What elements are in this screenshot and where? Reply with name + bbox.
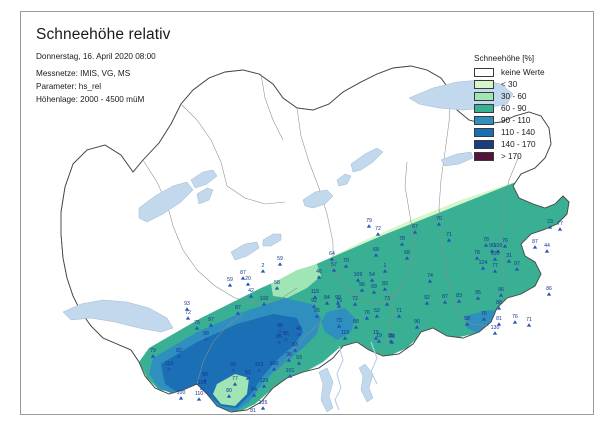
legend: Schneehöhe [%] keine Werte< 3030 - 6060 … <box>474 54 545 163</box>
station-value-label: 100 <box>260 296 269 302</box>
station-value-label: 119 <box>165 361 173 367</box>
meta-networks: Messnetze: IMIS, VG, MS <box>36 70 130 78</box>
station-value-label: 110 <box>195 391 203 397</box>
station-marker <box>533 245 537 248</box>
station-value-label: 108 <box>198 380 207 386</box>
station-value-label: 31 <box>506 253 512 259</box>
station-value-label: 99 <box>203 331 209 337</box>
meta-date: Donnerstag, 16. April 2020 08:00 <box>36 53 156 61</box>
station-marker <box>513 320 517 323</box>
station-value-label: 88 <box>496 300 502 306</box>
station-value-label: 90 <box>414 319 420 325</box>
station-marker <box>547 292 551 295</box>
station-value-label: 87 <box>442 294 448 300</box>
station-value-label: 93 <box>296 355 302 361</box>
legend-item: 60 - 90 <box>474 103 545 114</box>
station-marker <box>179 396 183 399</box>
station-value-label: 85 <box>388 333 394 339</box>
station-value-label: 92 <box>311 298 317 304</box>
legend-swatch <box>474 80 494 89</box>
legend-label: 140 - 170 <box>501 140 536 149</box>
legend-label: 90 - 110 <box>501 116 530 125</box>
legend-swatch <box>474 104 494 113</box>
station-value-label: 70 <box>436 216 442 222</box>
station-value-label: 86 <box>546 286 552 292</box>
station-value-label: 95 <box>276 334 282 340</box>
station-value-label: 109 <box>354 272 363 278</box>
page-title: Schneehöhe relativ <box>36 26 171 44</box>
station-value-label: 88 <box>353 319 359 325</box>
station-marker <box>261 406 265 409</box>
legend-item: 30 - 60 <box>474 91 545 102</box>
legend-item: < 30 <box>474 79 545 90</box>
station-value-label: 100 <box>177 390 186 396</box>
legend-swatch <box>474 152 494 161</box>
station-value-label: 81 <box>496 316 502 322</box>
station-value-label: 73 <box>384 296 390 302</box>
station-value-label: 72 <box>352 296 358 302</box>
legend-label: 110 - 140 <box>501 128 535 137</box>
station-value-label: 23 <box>547 219 553 225</box>
station-value-label: 77 <box>232 376 238 382</box>
legend-item: 90 - 110 <box>474 115 545 126</box>
station-value-label: 93 <box>184 301 190 307</box>
legend-label: keine Werte <box>501 68 545 77</box>
station-value-label: 71 <box>446 232 452 238</box>
station-value-label: 68 <box>404 250 410 256</box>
station-value-label: 2 <box>262 263 265 269</box>
station-value-label: 76 <box>364 310 370 316</box>
station-value-label: 87 <box>532 239 538 245</box>
station-value-label: 68 <box>373 247 379 253</box>
station-value-label: 72 <box>185 310 191 316</box>
station-value-label: 67 <box>412 224 418 230</box>
station-value-label: 124 <box>479 260 488 266</box>
station-value-label: 78 <box>474 250 480 256</box>
station-value-label: 20 <box>245 276 251 282</box>
station-value-label: 76 <box>502 238 508 244</box>
legend-swatch <box>474 68 494 77</box>
station-value-label: 59 <box>227 277 233 283</box>
station-value-label: 119 <box>341 330 349 336</box>
station-value-label: 1 <box>384 263 387 269</box>
station-value-label: 79 <box>336 298 342 304</box>
station-value-label: 54 <box>369 272 375 278</box>
station-marker <box>558 227 562 230</box>
station-value-label: 85 <box>314 308 320 314</box>
station-value-label: 78 <box>483 237 489 243</box>
station-value-label: 52 <box>374 308 380 314</box>
station-value-label: 100 <box>491 251 500 257</box>
station-value-label: 72 <box>375 226 381 232</box>
station-value-label: 70 <box>343 258 349 264</box>
station-value-label: 64 <box>329 251 335 257</box>
station-value-label: 77 <box>557 221 563 227</box>
station-value-label: 103 <box>255 362 264 368</box>
station-value-label: 52 <box>245 370 251 376</box>
station-value-label: 46 <box>316 269 322 275</box>
station-marker <box>527 323 531 326</box>
station-value-label: 100 <box>270 361 279 367</box>
station-value-label: 80 <box>226 388 232 394</box>
station-value-label: 71 <box>526 317 532 323</box>
station-value-label: 83 <box>382 281 388 287</box>
station-value-label: 57 <box>331 262 337 268</box>
legend-item: > 170 <box>474 151 545 162</box>
station-value-label: 87 <box>235 305 241 311</box>
station-marker <box>545 249 549 252</box>
station-value-label: 129 <box>260 378 269 384</box>
station-value-label: 74 <box>427 273 433 279</box>
station-value-label: 101 <box>286 368 295 374</box>
station-value-label: 97 <box>514 261 520 267</box>
station-value-label: 94 <box>251 387 257 393</box>
legend-item: keine Werte <box>474 67 545 78</box>
legend-item: 140 - 170 <box>474 139 545 150</box>
station-value-label: 97 <box>208 317 214 323</box>
station-value-label: 115 <box>311 289 319 295</box>
station-marker <box>197 397 201 400</box>
station-value-label: 71 <box>396 308 402 314</box>
station-value-label: 96 <box>277 323 283 329</box>
station-value-label: 44 <box>544 243 550 249</box>
legend-swatch <box>474 116 494 125</box>
station-value-label: 42 <box>248 288 254 294</box>
legend-label: > 170 <box>501 152 522 161</box>
station-value-label: 69 <box>371 284 377 290</box>
station-value-label: 77 <box>492 263 498 269</box>
station-value-label: 15 <box>373 330 379 336</box>
legend-label: < 30 <box>501 80 517 89</box>
station-value-label: 46 <box>296 326 302 332</box>
station-value-label: 76 <box>512 314 518 320</box>
station-value-label: 78 <box>399 236 405 242</box>
station-value-label: 58 <box>274 280 280 286</box>
station-value-label: 84 <box>324 295 330 301</box>
station-value-label: 81 <box>250 408 256 414</box>
legend-swatch <box>474 140 494 149</box>
legend-swatch <box>474 92 494 101</box>
station-value-label: 58 <box>464 316 470 322</box>
station-value-label: 96 <box>498 287 504 293</box>
meta-altitude: Höhenlage: 2000 - 4500 müM <box>36 96 144 104</box>
station-value-label: 82 <box>176 348 182 354</box>
station-value-label: 85 <box>283 331 289 337</box>
station-value-label: 92 <box>424 295 430 301</box>
station-value-label: 73 <box>336 318 342 324</box>
station-value-label: 79 <box>150 348 156 354</box>
station-value-label: 93 <box>230 362 236 368</box>
station-value-label: 36 <box>286 352 292 358</box>
legend-rows: keine Werte< 3030 - 6060 - 9090 - 110110… <box>474 67 545 162</box>
station-value-label: 135 <box>259 400 268 406</box>
legend-item: 110 - 140 <box>474 127 545 138</box>
station-value-label: 90 <box>202 372 208 378</box>
meta-parameter: Parameter: hs_rel <box>36 83 101 91</box>
station-value-label: 83 <box>456 293 462 299</box>
station-value-label: 76 <box>481 311 487 317</box>
station-value-label: 95 <box>475 290 481 296</box>
station-value-label: 130 <box>491 325 500 331</box>
station-value-label: 79 <box>366 218 372 224</box>
station-value-label: 59 <box>277 256 283 262</box>
legend-label: 60 - 90 <box>501 104 527 113</box>
station-value-label: 96 <box>359 282 365 288</box>
station-value-label: 83 <box>292 342 298 348</box>
station-value-label: 87 <box>240 270 246 276</box>
station-marker <box>493 331 497 334</box>
title-block: Schneehöhe relativ <box>36 26 171 44</box>
legend-swatch <box>474 128 494 137</box>
legend-label: 30 - 60 <box>501 92 527 101</box>
station-value-label: 75 <box>194 320 200 326</box>
legend-title: Schneehöhe [%] <box>474 54 545 63</box>
